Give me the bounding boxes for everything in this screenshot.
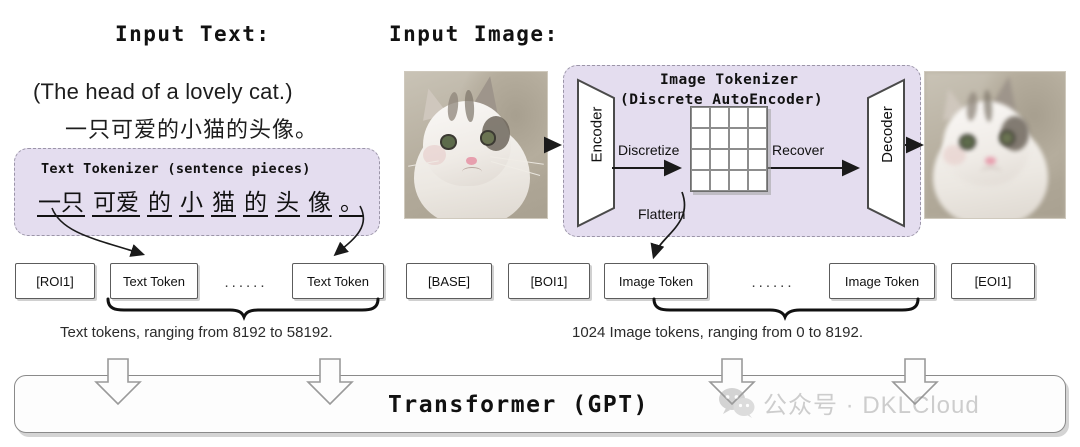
arrow-grid-to-decoder xyxy=(768,162,868,176)
code-grid-cell xyxy=(748,149,767,170)
token-box-image[interactable]: Image Token xyxy=(829,263,935,299)
token-box-image[interactable]: Image Token xyxy=(604,263,708,299)
page-title-input-text: Input Text: xyxy=(115,22,271,46)
page-title-input-image: Input Image: xyxy=(389,22,559,46)
text-tokenizer-title: Text Tokenizer (sentence pieces) xyxy=(41,161,311,177)
flatten-arrow xyxy=(620,190,760,270)
down-arrow-icon xyxy=(94,358,142,406)
wechat-icon xyxy=(718,387,756,419)
arrow-first-token xyxy=(52,208,142,254)
code-grid-cell xyxy=(748,170,767,191)
watermark: 公众号 · DKLCloud xyxy=(718,385,980,420)
code-grid-cell xyxy=(691,149,710,170)
token-box-special[interactable]: [BASE] xyxy=(406,263,492,299)
recover-label: Recover xyxy=(772,142,824,158)
code-grid-cell xyxy=(691,128,710,149)
image-tokenizer-title-line1: Image Tokenizer xyxy=(660,72,798,88)
code-grid-cell xyxy=(710,107,729,128)
code-grid-cell xyxy=(748,107,767,128)
image-tokens-brace xyxy=(650,297,940,319)
arrow-last-token xyxy=(336,206,363,254)
discrete-code-grid xyxy=(690,106,768,192)
token-box-text[interactable]: Text Token xyxy=(110,263,198,299)
discretize-label: Discretize xyxy=(618,142,679,158)
code-grid-cell xyxy=(748,128,767,149)
decoder-label: Decoder xyxy=(878,106,895,163)
code-grid-cell xyxy=(729,149,748,170)
token-box-special[interactable]: [ROI1] xyxy=(15,263,95,299)
watermark-text: 公众号 · DKLCloud xyxy=(763,385,980,420)
code-grid-cell xyxy=(691,107,710,128)
code-grid-cell xyxy=(710,170,729,191)
output-cat-image xyxy=(925,72,1065,218)
code-grid-cell xyxy=(729,170,748,191)
token-box-special[interactable]: [BOI1] xyxy=(508,263,590,299)
arrow-encoder-to-grid xyxy=(612,162,692,176)
token-ellipsis: ...... xyxy=(215,274,277,291)
encoder-label: Encoder xyxy=(589,107,606,163)
code-grid-cell xyxy=(710,149,729,170)
input-text-chinese: 一只可爱的小猫的头像。 xyxy=(65,112,318,144)
code-grid-cell xyxy=(710,128,729,149)
code-grid-cell xyxy=(729,128,748,149)
token-box-text[interactable]: Text Token xyxy=(292,263,384,299)
caption-image-tokens: 1024 Image tokens, ranging from 0 to 819… xyxy=(572,324,863,341)
caption-text-tokens: Text tokens, ranging from 8192 to 58192. xyxy=(60,324,333,341)
token-box-special[interactable]: [EOI1] xyxy=(951,263,1035,299)
transformer-label: Transformer (GPT) xyxy=(388,392,649,418)
down-arrow-icon xyxy=(306,358,354,406)
code-grid-cell xyxy=(691,170,710,191)
text-tokens-brace xyxy=(100,297,400,319)
input-text-english: (The head of a lovely cat.) xyxy=(33,79,293,105)
code-grid-cell xyxy=(729,107,748,128)
input-cat-image xyxy=(405,72,547,218)
token-ellipsis: ...... xyxy=(742,274,804,291)
